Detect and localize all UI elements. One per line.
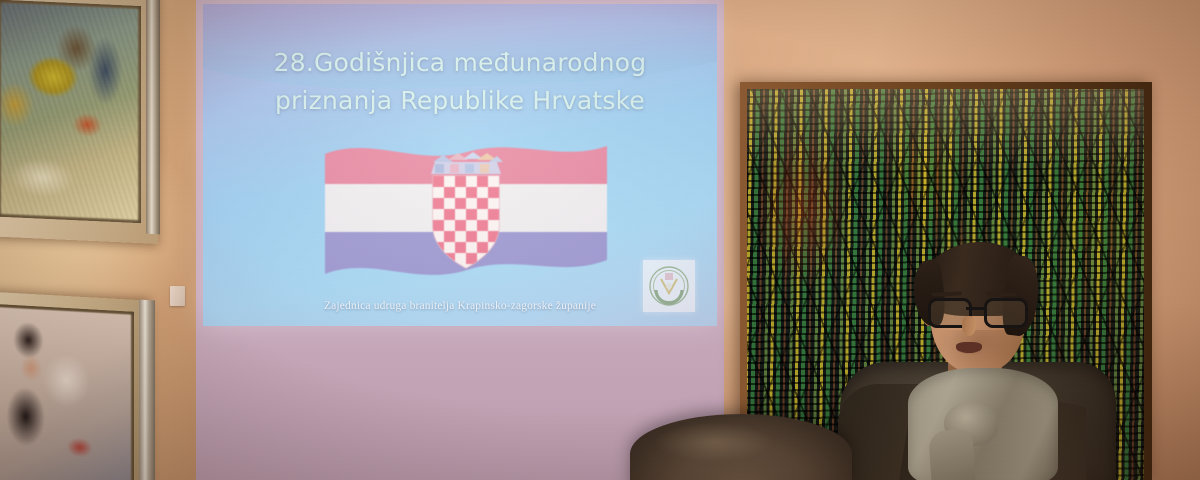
croatian-flag-graphic: [321, 132, 611, 297]
speaker-nose: [962, 316, 976, 336]
frame-inner: [0, 304, 134, 480]
speaker-glasses: [928, 298, 1028, 324]
gallery-presentation-photo: 28.Godišnjica međunarodnog priznanja Rep…: [0, 0, 1200, 480]
slide-title: 28.Godišnjica međunarodnog priznanja Rep…: [203, 44, 717, 120]
slide-title-line-1: 28.Godišnjica međunarodnog: [203, 44, 717, 82]
painting-abstract-still-life: [0, 0, 158, 244]
slide-title-line-2: priznanja Republike Hrvatske: [203, 82, 717, 120]
light-switch-plate[interactable]: [170, 286, 185, 306]
frame-edge-strip-upper: [146, 0, 160, 234]
slide-caption: Zajednica udruga branitelja Krapinsko-za…: [203, 300, 717, 312]
painting-canvas: [0, 307, 131, 480]
glasses-bridge: [966, 307, 984, 310]
projection-screen: 28.Godišnjica međunarodnog priznanja Rep…: [203, 4, 717, 326]
speaker-scarf-tail: [928, 429, 976, 480]
speaker-person: [852, 244, 1112, 480]
association-logo: [643, 260, 695, 312]
frame-edge-strip-lower: [139, 300, 155, 480]
painting-canvas: [1, 3, 138, 220]
painting-portrait-of-woman: [0, 291, 150, 480]
glasses-lens-right: [984, 298, 1028, 328]
frame-inner: [0, 0, 141, 223]
speaker-mouth: [956, 342, 982, 353]
